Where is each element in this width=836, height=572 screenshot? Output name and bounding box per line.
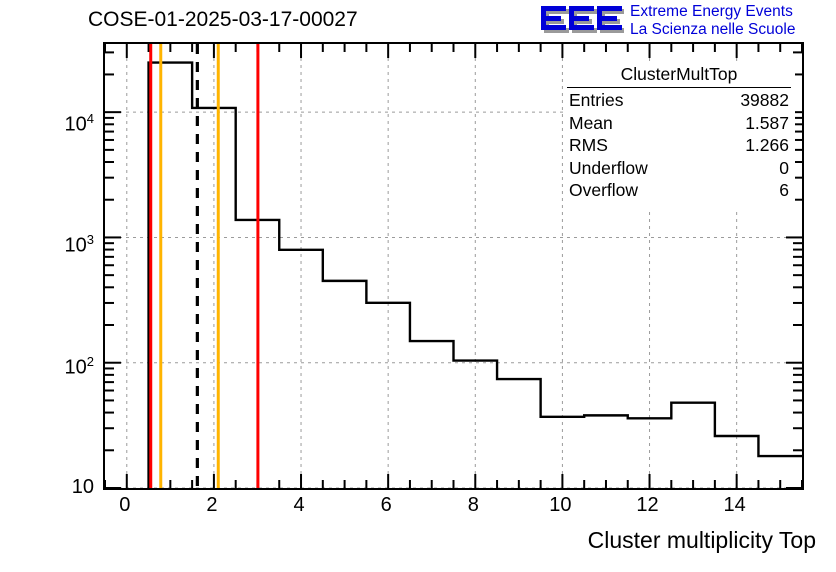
eee-logo-line2: La Scienza nelle Scuole <box>630 21 836 39</box>
x-tick-label: 8 <box>443 494 503 517</box>
y-tick-label-1000: 103 <box>28 232 94 258</box>
y-tick-label-100: 102 <box>28 354 94 380</box>
stats-row-value: 0 <box>779 157 789 180</box>
x-tick-label: 10 <box>530 494 590 517</box>
x-tick-label: 12 <box>618 494 678 517</box>
x-tick-label: 2 <box>182 494 242 517</box>
plot-canvas: COSE-01-2025-03-17-00027 Extreme Ene <box>0 0 836 572</box>
stats-row: Entries39882 <box>563 89 795 112</box>
x-tick-label: 14 <box>705 494 765 517</box>
stats-row-key: RMS <box>569 134 608 157</box>
stats-row-key: Mean <box>569 112 613 135</box>
stats-row-value: 39882 <box>740 89 789 112</box>
stats-rows: Entries39882Mean1.587RMS1.266Underflow0O… <box>563 89 795 202</box>
eee-logo-line1: Extreme Energy Events <box>630 3 836 21</box>
y-tick-label-10: 10 <box>28 476 94 499</box>
stats-row: Overflow6 <box>563 179 795 202</box>
page-title: COSE-01-2025-03-17-00027 <box>88 8 358 32</box>
stats-row: Mean1.587 <box>563 112 795 135</box>
eee-logo: Extreme Energy Events La Scienza nelle S… <box>538 2 834 42</box>
stats-row-value: 1.266 <box>745 134 789 157</box>
vertical-markers <box>151 44 258 488</box>
eee-logo-mark-icon <box>538 4 624 38</box>
x-tick-label: 0 <box>95 494 155 517</box>
stats-row-key: Underflow <box>569 157 648 180</box>
stats-row: RMS1.266 <box>563 134 795 157</box>
stats-row-value: 1.587 <box>745 112 789 135</box>
x-tick-label: 6 <box>356 494 416 517</box>
stats-title: ClusterMultTop <box>567 62 791 88</box>
stats-row-key: Entries <box>569 89 623 112</box>
stats-row-key: Overflow <box>569 179 638 202</box>
stats-row-value: 6 <box>779 179 789 202</box>
y-tick-label-10000: 104 <box>28 111 94 137</box>
x-axis-title: Cluster multiplicity Top <box>588 527 816 554</box>
stats-box: ClusterMultTop Entries39882Mean1.587RMS1… <box>563 62 795 208</box>
stats-row: Underflow0 <box>563 157 795 180</box>
eee-logo-text: Extreme Energy Events La Scienza nelle S… <box>630 3 836 39</box>
x-tick-label: 4 <box>269 494 329 517</box>
